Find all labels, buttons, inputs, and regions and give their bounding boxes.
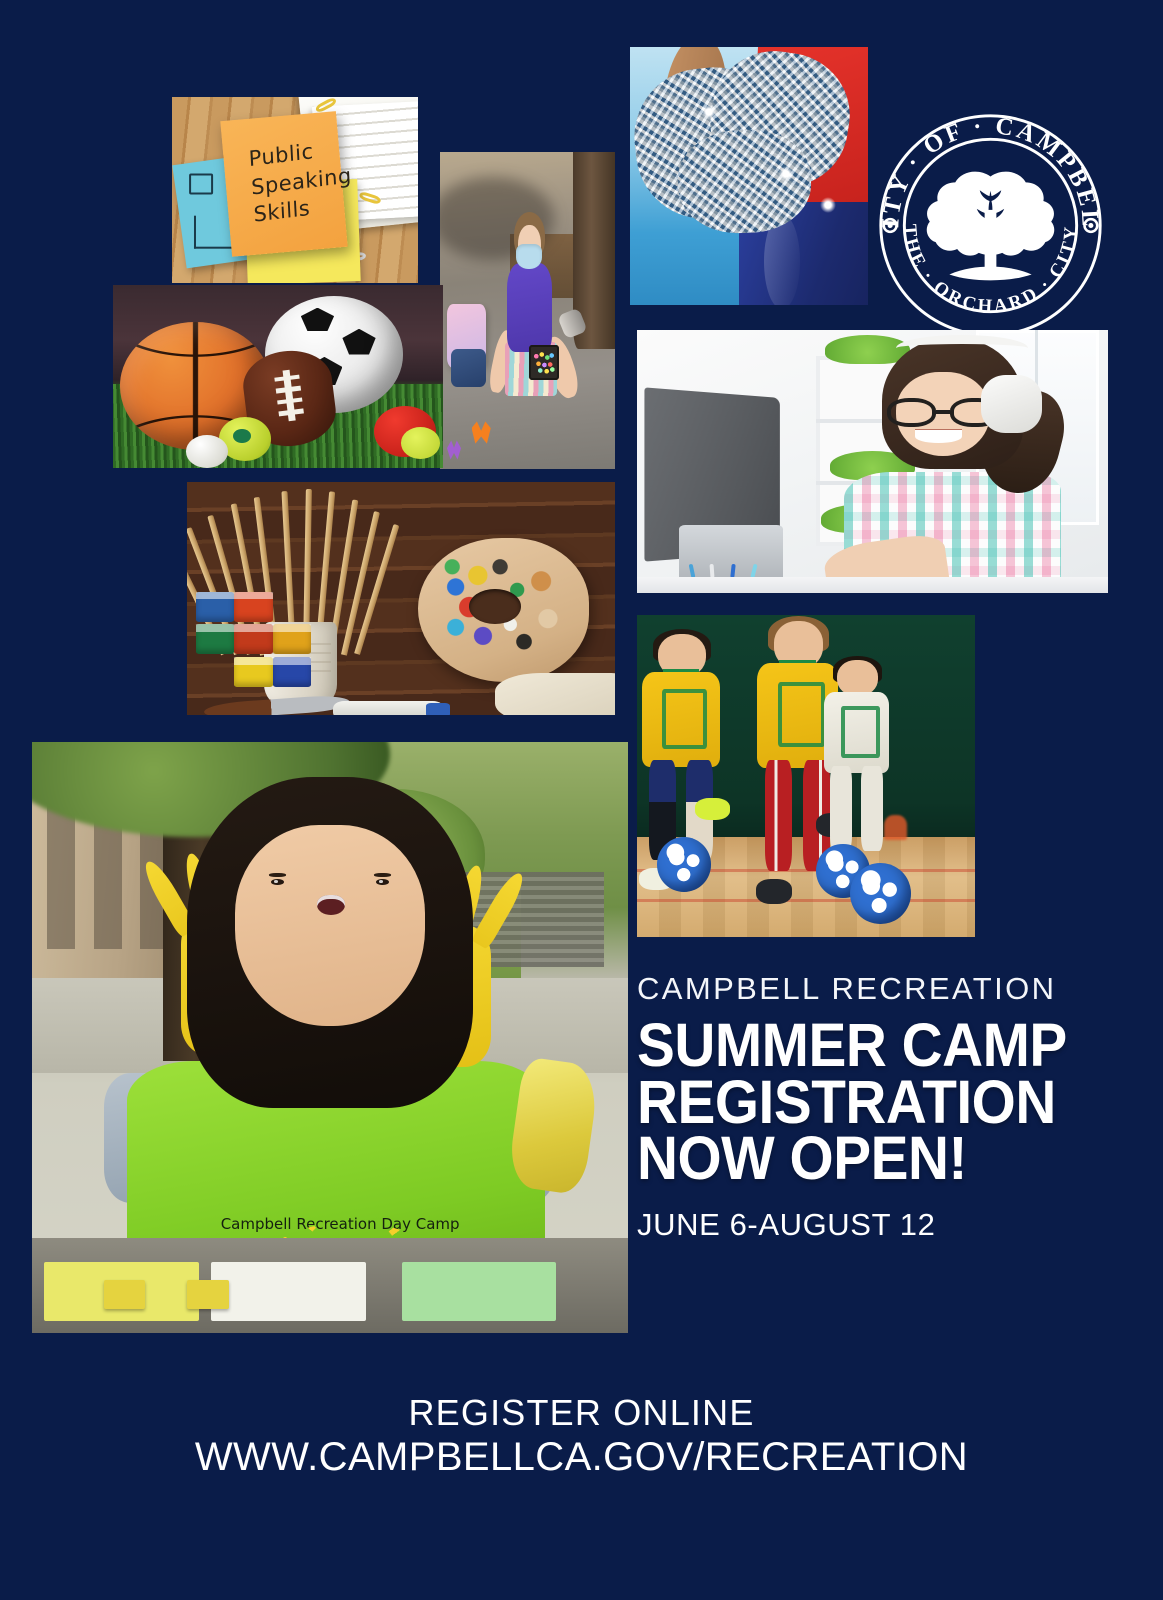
paint-pot	[234, 592, 273, 622]
photo-sports-balls	[113, 285, 443, 468]
court-line	[637, 899, 975, 902]
paint-tube	[333, 701, 444, 715]
sticky-note-public-speaking: Public Speaking Skills	[220, 111, 347, 256]
camp-dates: JUNE 6-AUGUST 12	[637, 1207, 935, 1243]
headphone-band-icon	[896, 335, 1028, 361]
soccer-shoe	[756, 879, 793, 904]
cloth-rag	[495, 673, 615, 715]
head	[837, 660, 877, 696]
city-of-campbell-seal: CITY · OF · CAMPBELL THE · ORCHARD · CIT…	[873, 108, 1108, 343]
pen	[688, 564, 695, 578]
headline: SUMMER CAMP REGISTRATION NOW OPEN!	[637, 1017, 1067, 1187]
footer-line-register-online: REGISTER ONLINE	[0, 1392, 1163, 1434]
palette-thumb-hole	[469, 589, 520, 624]
soccer-ball	[657, 837, 711, 892]
eyebrow	[374, 873, 391, 877]
headline-line-3: NOW OPEN!	[637, 1130, 1067, 1187]
photo-cheer-pompoms	[630, 47, 868, 305]
golf-ball	[186, 435, 229, 468]
headphone-earcup-icon	[981, 375, 1042, 433]
eyebrow-campbell-recreation: CAMPBELL RECREATION	[637, 971, 1056, 1007]
photo-online-learning	[637, 330, 1108, 593]
footer-register: REGISTER ONLINE WWW.CAMPBELLCA.GOV/RECRE…	[0, 1392, 1163, 1480]
oak-tree-icon	[927, 172, 1055, 281]
soccer-kid	[820, 660, 894, 873]
open-mouth	[317, 895, 346, 915]
poster-canvas: Public Speaking Skills	[0, 0, 1163, 1600]
paint-pot	[234, 624, 273, 654]
red-ball	[374, 406, 437, 457]
paint-pot	[273, 657, 312, 687]
headline-line-2: REGISTRATION	[637, 1074, 1067, 1131]
bead-tray	[529, 345, 559, 380]
legs	[830, 766, 884, 851]
headline-line-1: SUMMER CAMP	[637, 1017, 1067, 1074]
pom-pom	[676, 127, 813, 235]
smile	[915, 430, 962, 443]
desk-surface	[637, 577, 1108, 593]
paint-sponge	[187, 1280, 229, 1310]
paint-sponge	[104, 1280, 146, 1310]
photo-indoor-soccer	[637, 615, 975, 937]
pen	[750, 564, 757, 578]
girl-face	[235, 825, 426, 1026]
backpack-blue	[451, 349, 486, 387]
soccer-ball	[850, 863, 911, 924]
eye	[271, 879, 284, 885]
photo-masked-girl-crafts	[440, 152, 615, 469]
pen	[710, 564, 715, 578]
soccer-shoe	[695, 798, 730, 821]
footer-line-url: WWW.CAMPBELLCA.GOV/RECREATION	[0, 1434, 1163, 1480]
paint-pot	[273, 624, 312, 654]
eyebrow	[269, 873, 286, 877]
craft-beads	[533, 350, 554, 375]
photo-paint-hands-girl: Campbell Recreation Day Camp	[32, 742, 628, 1333]
craft-paper	[402, 1262, 557, 1321]
eye	[376, 879, 389, 885]
photo-art-supplies	[187, 482, 615, 715]
yellow-jersey	[642, 672, 719, 767]
photo-public-speaking: Public Speaking Skills	[172, 97, 418, 283]
yellow-jersey	[824, 692, 889, 773]
paint-pot	[234, 657, 273, 687]
pen	[730, 564, 736, 578]
sparkle-highlight	[778, 166, 794, 182]
girl-top-purple	[507, 263, 553, 352]
face-mask-icon	[516, 244, 542, 269]
craft-paper	[211, 1262, 366, 1321]
sparkle-highlight	[820, 197, 836, 213]
paint-pot	[196, 592, 235, 622]
paint-pot	[196, 624, 235, 654]
